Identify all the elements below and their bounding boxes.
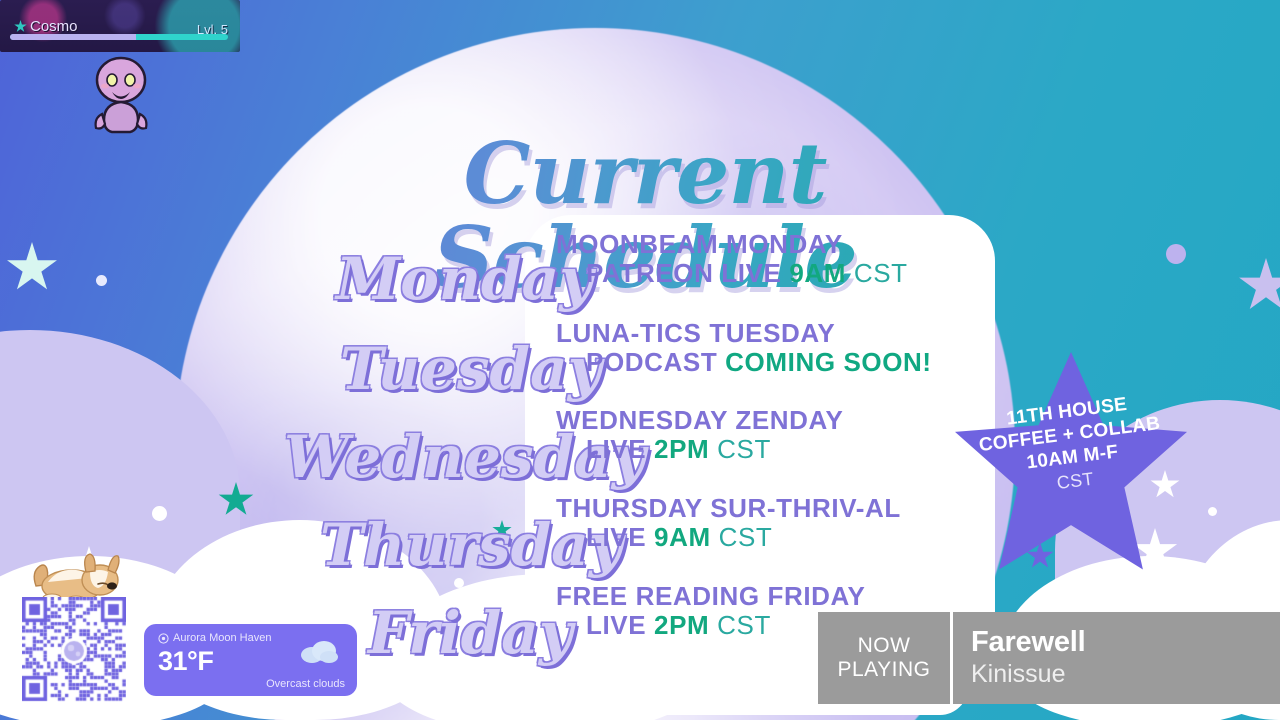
schedule-line1-wednesday: WEDNESDAY ZENDAY: [556, 406, 844, 435]
stream-overlay: Current Schedule Monday MOONBEAM MONDAY …: [0, 0, 1280, 720]
schedule-info-monday: MOONBEAM MONDAY PATREON LIVE 9AM CST: [556, 230, 908, 288]
schedule-line1-tuesday: LUNA-TICS TUESDAY: [556, 319, 932, 348]
schedule-line1-monday: MOONBEAM MONDAY: [556, 230, 908, 259]
schedule-info-wednesday: WEDNESDAY ZENDAY LIVE 2PM CST: [556, 406, 844, 464]
day-label-friday: Friday: [368, 604, 573, 662]
pet-xp-bar: [10, 34, 228, 40]
schedule-line2-prefix-thursday: LIVE: [586, 522, 646, 552]
qr-code[interactable]: [22, 597, 126, 705]
schedule-tz-wednesday: CST: [717, 434, 771, 464]
schedule-time-friday: 2PM: [654, 610, 709, 640]
pet-sprite-icon: [88, 52, 154, 134]
day-label-monday: Monday: [336, 250, 593, 308]
weather-temperature: 31°F: [158, 646, 213, 677]
pet-widget: Cosmo Lvl. 5: [0, 0, 240, 52]
now-playing-widget: NOW PLAYING Farewell Kinissue: [818, 612, 1280, 704]
pet-name: Cosmo: [30, 18, 78, 35]
schedule-time-wednesday: 2PM: [654, 434, 709, 464]
schedule-line2-prefix-monday: PATREON LIVE: [586, 258, 781, 288]
schedule-line2-tuesday: PODCAST COMING SOON!: [556, 348, 932, 377]
schedule-info-thursday: THURSDAY SUR-THRIV-AL LIVE 9AM CST: [556, 494, 901, 552]
schedule-tz-friday: CST: [717, 610, 771, 640]
location-pin-icon: [158, 633, 169, 644]
weather-location-row: Aurora Moon Haven: [158, 632, 271, 644]
schedule-line2-prefix-tuesday: PODCAST: [586, 347, 717, 377]
schedule-tz-thursday: CST: [719, 522, 773, 552]
schedule-time-monday: 9AM: [789, 258, 846, 288]
schedule-time-tuesday: COMING SOON!: [725, 347, 932, 377]
schedule-line2-prefix-friday: LIVE: [586, 610, 646, 640]
schedule-line2-wednesday: LIVE 2PM CST: [556, 435, 844, 464]
schedule-line1-friday: FREE READING FRIDAY: [556, 582, 865, 611]
star-icon: [14, 20, 27, 33]
now-playing-label: NOW PLAYING: [818, 612, 950, 704]
weather-location: Aurora Moon Haven: [173, 632, 271, 644]
now-playing-info: Farewell Kinissue: [953, 612, 1280, 704]
now-playing-label-line1: NOW: [858, 634, 911, 658]
schedule-tz-monday: CST: [854, 258, 908, 288]
schedule-time-thursday: 9AM: [654, 522, 711, 552]
now-playing-label-line2: PLAYING: [838, 658, 931, 682]
schedule-line2-thursday: LIVE 9AM CST: [556, 523, 901, 552]
schedule-line2-prefix-wednesday: LIVE: [586, 434, 646, 464]
schedule-info-tuesday: LUNA-TICS TUESDAY PODCAST COMING SOON!: [556, 319, 932, 377]
now-playing-artist: Kinissue: [971, 660, 1280, 689]
weather-widget: Aurora Moon Haven 31°F Overcast clouds: [144, 624, 357, 696]
pet-xp-fill: [10, 34, 136, 40]
schedule-line2-monday: PATREON LIVE 9AM CST: [556, 259, 908, 288]
schedule-line1-thursday: THURSDAY SUR-THRIV-AL: [556, 494, 901, 523]
cloud-icon: [299, 638, 339, 664]
now-playing-track-title: Farewell: [971, 627, 1280, 659]
weather-description: Overcast clouds: [266, 678, 345, 690]
